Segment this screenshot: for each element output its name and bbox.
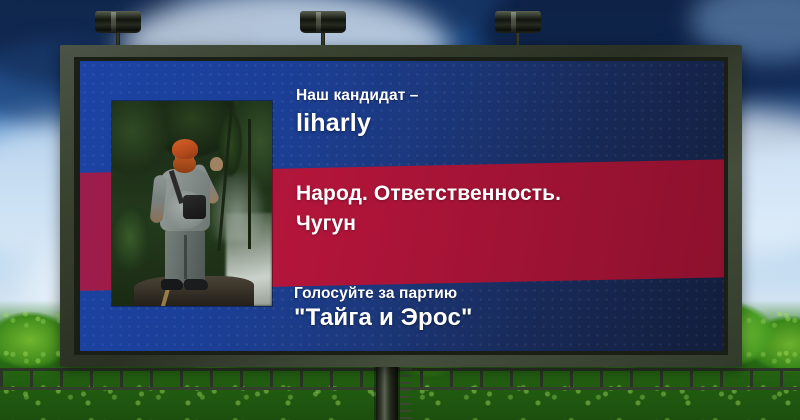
billboard-panel: Наш кандидат – liharly Народ. Ответствен… [80, 61, 724, 351]
maintenance-ladder [398, 368, 412, 420]
party-name-text: "Тайга и Эрос" [294, 304, 473, 333]
billboard: Наш кандидат – liharly Народ. Ответствен… [60, 45, 742, 367]
vote-prompt-text: Голосуйте за партию [294, 285, 473, 303]
call-to-action-block: Голосуйте за партию "Тайга и Эрос" [294, 285, 473, 333]
candidate-headline-block: Наш кандидат – liharly [296, 87, 419, 138]
billboard-scene: Наш кандидат – liharly Народ. Ответствен… [0, 0, 800, 420]
floodlight-hood [300, 11, 346, 33]
slogan-line-2: Чугун [296, 209, 561, 239]
candidate-name-text: liharly [296, 108, 419, 138]
slogan-block: Народ. Ответственность. Чугун [296, 179, 561, 240]
floodlight-hood [95, 11, 141, 33]
candidate-prefix-text: Наш кандидат – [296, 87, 419, 105]
floodlight-icon [95, 11, 141, 45]
floodlight-icon [300, 11, 346, 45]
slogan-line-1: Народ. Ответственность. [296, 179, 561, 209]
billboard-text-layer: Наш кандидат – liharly Народ. Ответствен… [80, 61, 724, 351]
support-post-shading [374, 360, 400, 420]
floodlight-icon [495, 11, 541, 45]
floodlight-hood [495, 11, 541, 33]
